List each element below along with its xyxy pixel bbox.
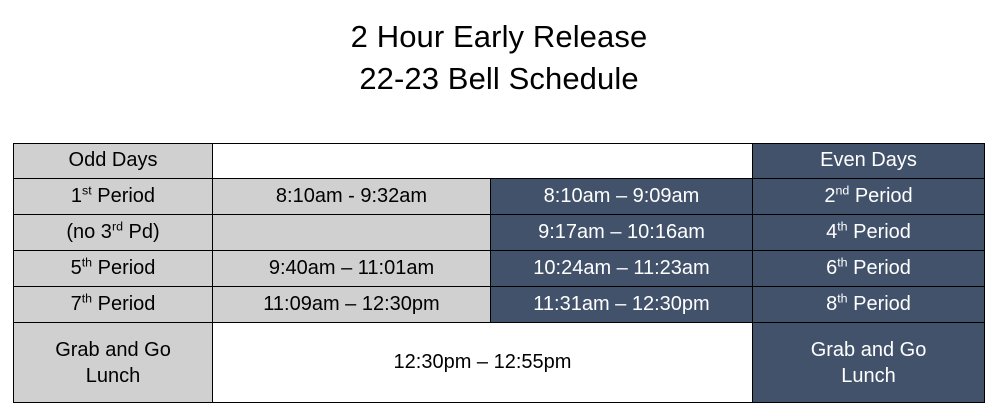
even-period-label: 2nd Period <box>753 179 985 215</box>
bell-schedule-table: Odd Days Even Days 1st Period 8:10am - 9… <box>13 143 985 403</box>
odd-period-label: (no 3rd Pd) <box>14 215 213 251</box>
table-row: 7th Period 11:09am – 12:30pm 11:31am – 1… <box>14 287 985 323</box>
page-title: 2 Hour Early Release 22-23 Bell Schedule <box>0 0 998 100</box>
title-line-2: 22-23 Bell Schedule <box>0 58 998 100</box>
even-period-time: 8:10am – 9:09am <box>491 179 753 215</box>
odd-period-word: Period <box>92 185 155 207</box>
even-period-ordinal-suffix: th <box>837 219 847 233</box>
even-days-header: Even Days <box>753 144 985 179</box>
odd-period-number: 5 <box>71 257 82 279</box>
table-row: (no 3rd Pd) 9:17am – 10:16am 4th Period <box>14 215 985 251</box>
even-period-time: 11:31am – 12:30pm <box>491 287 753 323</box>
even-period-number: 2 <box>824 185 835 207</box>
odd-period-word: Period <box>92 293 155 315</box>
even-lunch-line-1: Grab and Go <box>811 339 927 361</box>
even-period-time: 9:17am – 10:16am <box>491 215 753 251</box>
lunch-time: 12:30pm – 12:55pm <box>213 323 753 403</box>
table-row-header: Odd Days Even Days <box>14 144 985 179</box>
even-period-label: 4th Period <box>753 215 985 251</box>
even-period-ordinal-suffix: th <box>837 255 847 269</box>
odd-period-word: Pd) <box>123 221 160 243</box>
table-row: 1st Period 8:10am - 9:32am 8:10am – 9:09… <box>14 179 985 215</box>
odd-period-word: Period <box>92 257 155 279</box>
odd-period-label: 1st Period <box>14 179 213 215</box>
even-period-number: 8 <box>826 293 837 315</box>
odd-period-time: 9:40am – 11:01am <box>213 251 491 287</box>
odd-period-label: 7th Period <box>14 287 213 323</box>
even-period-number: 6 <box>826 257 837 279</box>
odd-period-ordinal-suffix: rd <box>112 219 123 233</box>
even-period-word: Period <box>849 185 912 207</box>
even-period-number: 4 <box>826 221 837 243</box>
even-period-label: 8th Period <box>753 287 985 323</box>
odd-period-ordinal-suffix: th <box>82 291 92 305</box>
even-period-word: Period <box>848 221 911 243</box>
even-lunch-label: Grab and GoLunch <box>753 323 985 403</box>
odd-period-label: 5th Period <box>14 251 213 287</box>
even-period-word: Period <box>848 257 911 279</box>
even-period-label: 6th Period <box>753 251 985 287</box>
header-spacer-cell <box>213 144 753 179</box>
even-period-time: 10:24am – 11:23am <box>491 251 753 287</box>
odd-lunch-line-2: Lunch <box>86 365 141 387</box>
odd-period-number: (no 3 <box>66 221 112 243</box>
odd-period-number: 7 <box>71 293 82 315</box>
odd-lunch-label: Grab and GoLunch <box>14 323 213 403</box>
odd-days-header: Odd Days <box>14 144 213 179</box>
even-period-ordinal-suffix: th <box>837 291 847 305</box>
odd-period-ordinal-suffix: st <box>82 183 92 197</box>
odd-period-number: 1 <box>71 185 82 207</box>
even-period-ordinal-suffix: nd <box>835 183 849 197</box>
odd-lunch-line-1: Grab and Go <box>55 339 171 361</box>
table-row-lunch: Grab and GoLunch 12:30pm – 12:55pm Grab … <box>14 323 985 403</box>
even-period-word: Period <box>848 293 911 315</box>
bell-schedule-table-wrapper: Odd Days Even Days 1st Period 8:10am - 9… <box>13 143 984 403</box>
even-lunch-line-2: Lunch <box>841 365 896 387</box>
odd-period-time: 11:09am – 12:30pm <box>213 287 491 323</box>
title-line-1: 2 Hour Early Release <box>0 16 998 58</box>
odd-period-ordinal-suffix: th <box>82 255 92 269</box>
table-row: 5th Period 9:40am – 11:01am 10:24am – 11… <box>14 251 985 287</box>
odd-period-time <box>213 215 491 251</box>
odd-period-time: 8:10am - 9:32am <box>213 179 491 215</box>
